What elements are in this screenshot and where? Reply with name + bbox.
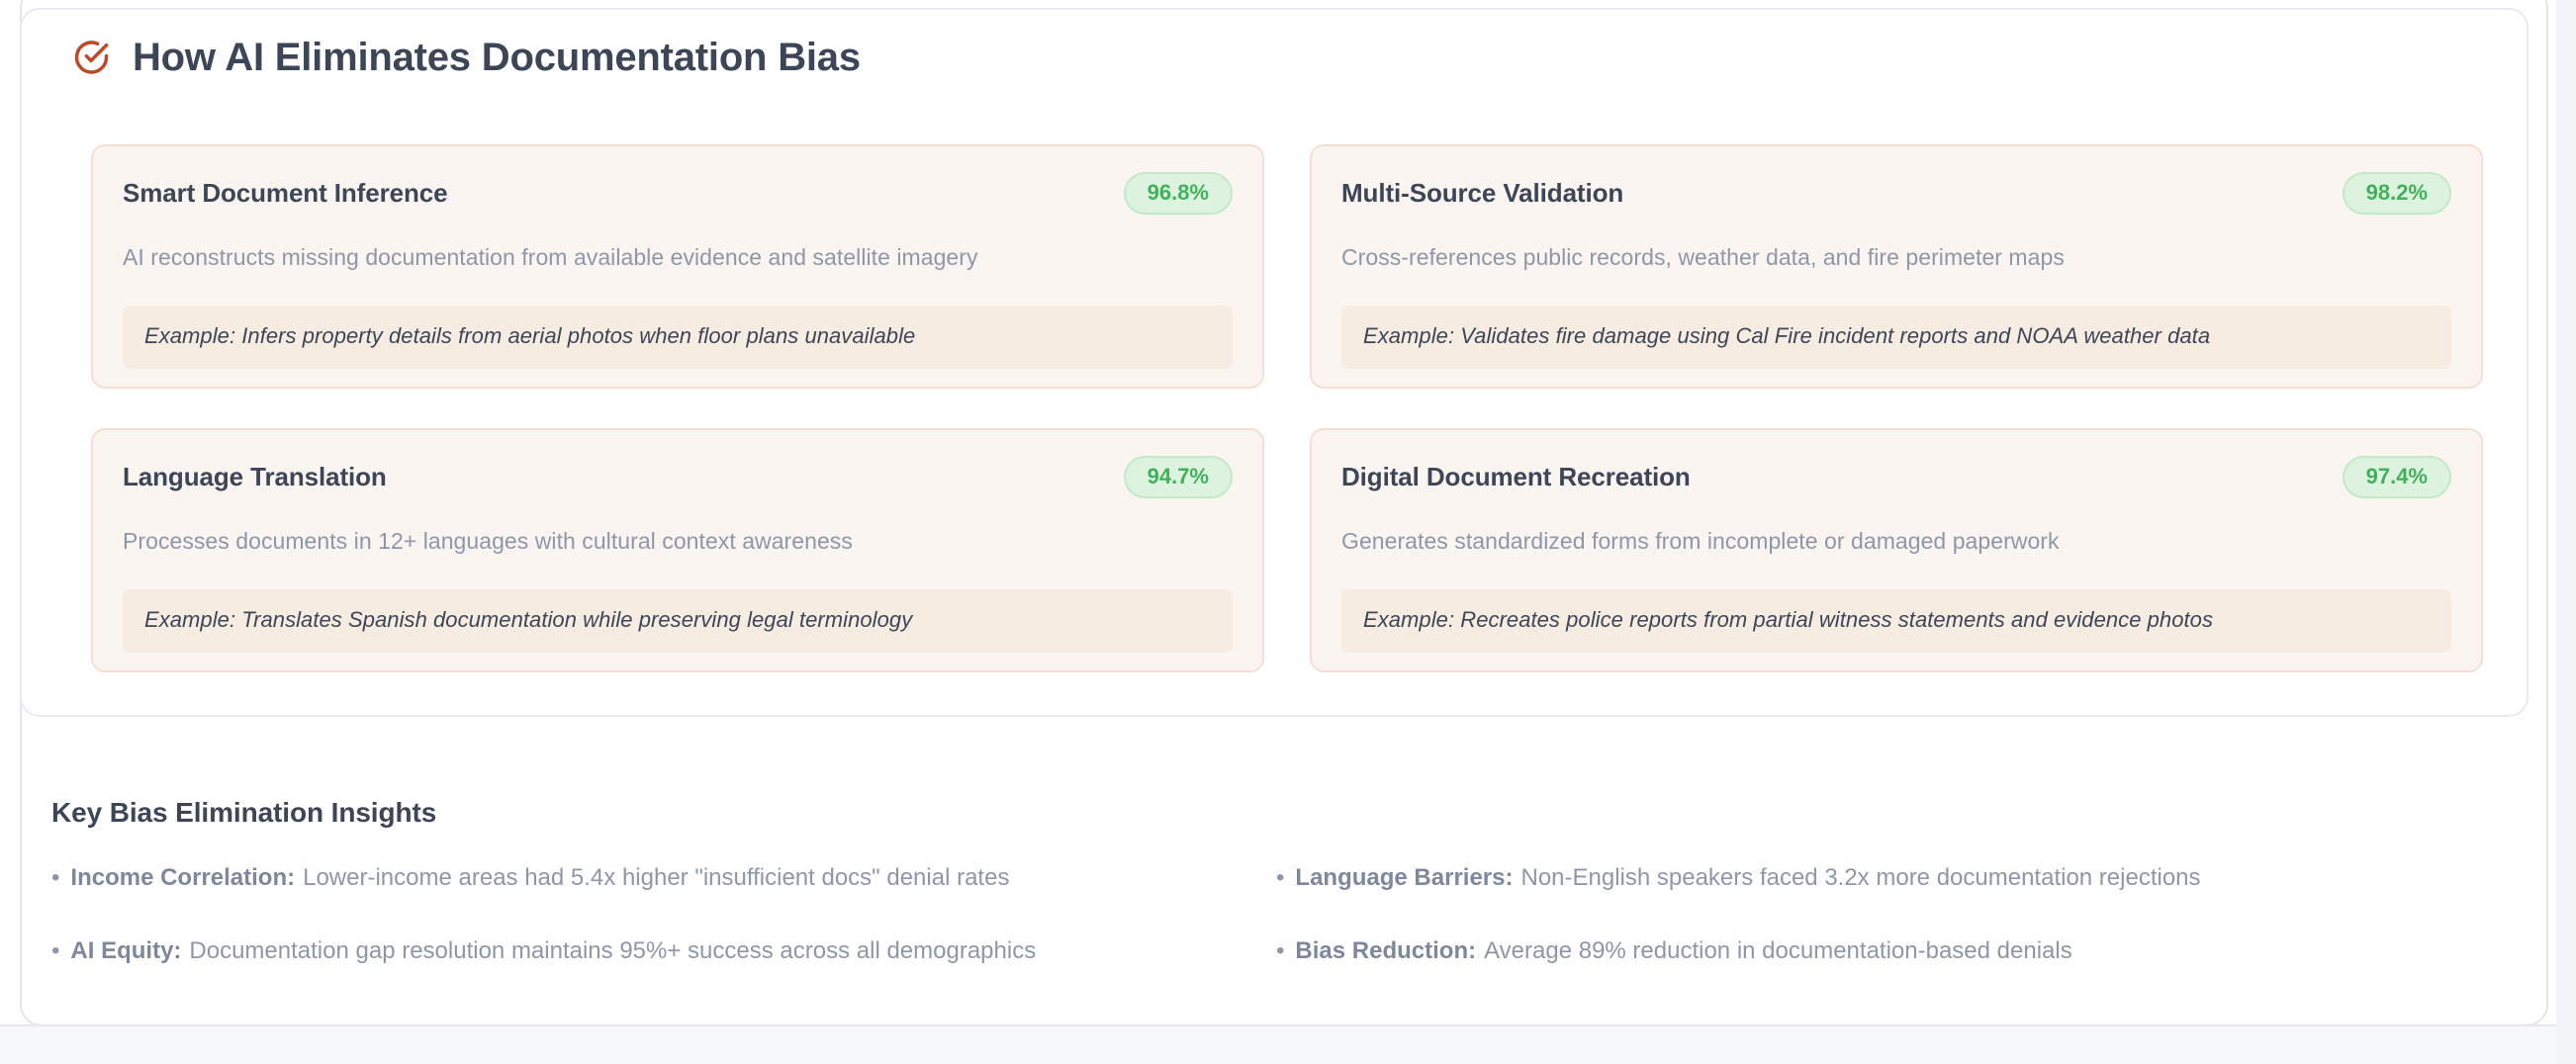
card-example: Example: Validates fire damage using Cal…	[1341, 306, 2451, 369]
card-title: Language Translation	[123, 456, 387, 492]
right-gutter	[2556, 0, 2576, 1064]
accuracy-badge: 94.7%	[1124, 456, 1233, 498]
card-example: Example: Infers property details from ae…	[123, 306, 1233, 369]
card-description: AI reconstructs missing documentation fr…	[123, 242, 1233, 273]
card-example: Example: Translates Spanish documentatio…	[123, 589, 1233, 653]
insight-item: • Income Correlation:Lower-income areas …	[51, 863, 1276, 893]
insight-body: AI Equity:Documentation gap resolution m…	[70, 936, 1036, 966]
insight-body: Income Correlation:Lower-income areas ha…	[70, 863, 1009, 893]
card-header: Multi-Source Validation 98.2%	[1341, 172, 2451, 215]
insight-body: Bias Reduction:Average 89% reduction in …	[1295, 936, 2071, 966]
insight-item: • Language Barriers:Non-English speakers…	[1276, 863, 2475, 893]
insights-section: Key Bias Elimination Insights • Income C…	[51, 799, 2475, 966]
insight-label: Income Correlation:	[70, 864, 295, 891]
card-description: Processes documents in 12+ languages wit…	[123, 526, 1233, 557]
card-description: Generates standardized forms from incomp…	[1341, 526, 2451, 557]
insight-label: Bias Reduction:	[1295, 937, 1476, 964]
feature-card[interactable]: Digital Document Recreation 97.4% Genera…	[1310, 428, 2483, 672]
footer-strip	[0, 1026, 2556, 1064]
insight-text: Average 89% reduction in documentation-b…	[1484, 937, 2072, 964]
insight-item: • Bias Reduction:Average 89% reduction i…	[1276, 936, 2475, 966]
card-example: Example: Recreates police reports from p…	[1341, 589, 2451, 653]
page-title: How AI Eliminates Documentation Bias	[133, 38, 861, 77]
accuracy-badge: 97.4%	[2343, 456, 2451, 498]
feature-card[interactable]: Multi-Source Validation 98.2% Cross-refe…	[1310, 144, 2483, 389]
insight-text: Lower-income areas had 5.4x higher "insu…	[303, 864, 1009, 891]
insight-item: • AI Equity:Documentation gap resolution…	[51, 936, 1276, 966]
documentation-bias-panel: How AI Eliminates Documentation Bias Sma…	[20, 8, 2529, 717]
feature-card[interactable]: Smart Document Inference 96.8% AI recons…	[91, 144, 1264, 389]
insight-text: Non-English speakers faced 3.2x more doc…	[1520, 864, 2200, 891]
card-title: Multi-Source Validation	[1341, 172, 1623, 209]
insight-text: Documentation gap resolution maintains 9…	[189, 937, 1036, 964]
check-circle-icon	[71, 38, 111, 77]
insight-label: AI Equity:	[70, 937, 181, 964]
insight-label: Language Barriers:	[1295, 864, 1513, 891]
bullet-icon: •	[1276, 866, 1284, 890]
card-title: Smart Document Inference	[123, 172, 447, 209]
insights-title: Key Bias Elimination Insights	[51, 799, 2475, 827]
accuracy-badge: 98.2%	[2343, 172, 2451, 215]
panel-header: How AI Eliminates Documentation Bias	[71, 38, 861, 77]
bullet-icon: •	[51, 866, 59, 890]
card-header: Language Translation 94.7%	[123, 456, 1233, 498]
insight-body: Language Barriers:Non-English speakers f…	[1295, 863, 2200, 893]
feature-card-grid: Smart Document Inference 96.8% AI recons…	[91, 144, 2483, 672]
card-header: Digital Document Recreation 97.4%	[1341, 456, 2451, 498]
page-root: How AI Eliminates Documentation Bias Sma…	[0, 0, 2576, 1064]
card-title: Digital Document Recreation	[1341, 456, 1691, 492]
bullet-icon: •	[51, 939, 59, 963]
feature-card[interactable]: Language Translation 94.7% Processes doc…	[91, 428, 1264, 672]
accuracy-badge: 96.8%	[1124, 172, 1233, 215]
card-header: Smart Document Inference 96.8%	[123, 172, 1233, 215]
card-description: Cross-references public records, weather…	[1341, 242, 2451, 273]
insights-grid: • Income Correlation:Lower-income areas …	[51, 863, 2475, 966]
bullet-icon: •	[1276, 939, 1284, 963]
